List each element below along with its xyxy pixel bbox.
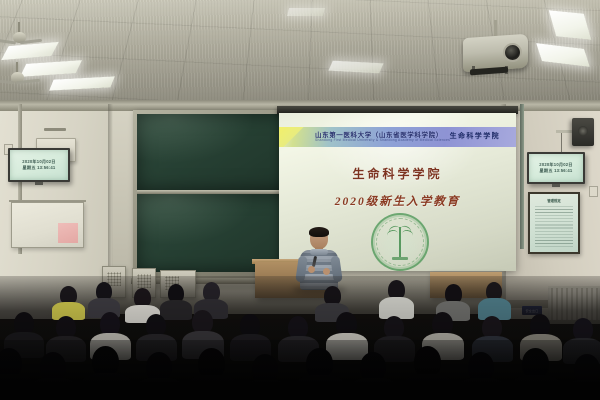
framed-notice-board: 管理规定	[528, 192, 580, 254]
right-display-time: 星期五 13:56:41	[540, 168, 573, 174]
audience-area	[0, 276, 600, 400]
notice-title: 管理规定	[530, 198, 578, 203]
lecture-hall-photo: 山东第一医科大学（山东省医学科学院） Shandong First Medica…	[0, 0, 600, 400]
door-frame-edge	[520, 104, 524, 249]
ceiling-light-panel	[287, 8, 325, 16]
slide-title-line-2: 2020级新生入学教育	[279, 193, 516, 209]
pink-notice-paper	[58, 223, 78, 243]
power-outlet	[589, 186, 598, 197]
ceiling-fan	[0, 62, 34, 88]
university-seal-emblem-icon	[371, 213, 429, 271]
wall-bracket	[44, 128, 66, 131]
left-wall-whiteboard	[11, 202, 84, 248]
presenter-right-hand	[323, 268, 330, 275]
right-wall-display: 2020年10月02日 星期五 13:56:41	[527, 152, 585, 184]
right-display-mount	[552, 184, 560, 187]
notice-text-lines	[535, 206, 573, 247]
ceiling-fan	[2, 22, 36, 48]
slide-college-name: 生命科学学院	[450, 131, 500, 141]
projector-hotspot	[315, 113, 481, 195]
slide-title-line-1: 生命科学学院	[279, 165, 516, 182]
audience-vignette	[0, 276, 600, 400]
presenter-left-hand	[308, 266, 315, 273]
speaker-cone-icon	[578, 126, 588, 136]
blackboard-upper-panel	[137, 114, 292, 190]
blackboard	[133, 110, 296, 280]
wall-loudspeaker	[572, 118, 594, 146]
left-display-time: 星期五 13:56:41	[23, 165, 56, 171]
presenter-hair	[309, 227, 329, 237]
slide-university-name-en: Shandong First Medical University & Shan…	[315, 138, 450, 142]
projector-lens-icon	[503, 43, 522, 62]
banner-yellow-wedge	[279, 127, 313, 147]
slide-header-banner: 山东第一医科大学（山东省医学科学院） Shandong First Medica…	[279, 127, 516, 147]
left-display-mount	[35, 182, 43, 185]
presenter-collar	[310, 249, 328, 255]
left-wall-display: 2020年10月02日 星期五 13:56:41	[8, 148, 70, 182]
